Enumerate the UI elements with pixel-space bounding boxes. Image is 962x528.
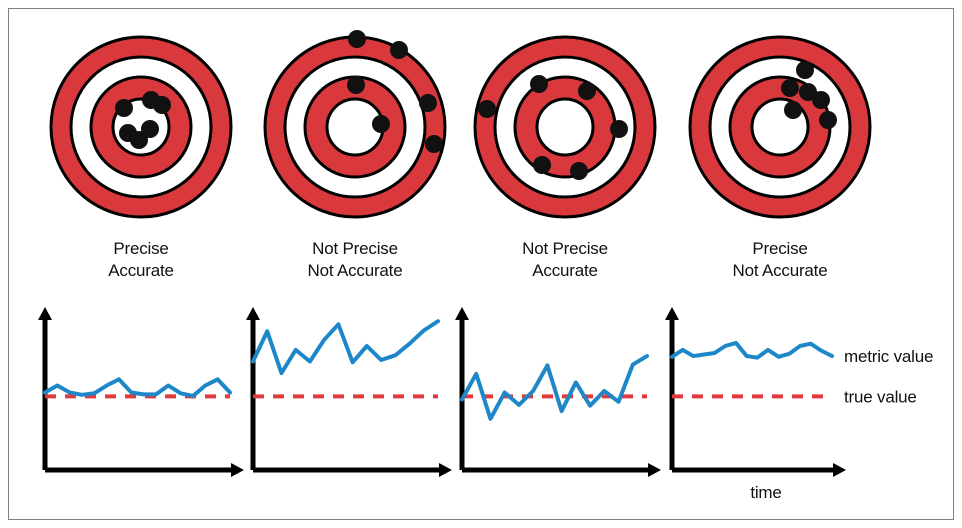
target-2: Not PreciseNot Accurate [265, 30, 445, 280]
x-axis-arrowhead [648, 463, 661, 477]
targets-layer: PreciseAccurateNot PreciseNot AccurateNo… [51, 30, 870, 280]
shot-dot [533, 156, 551, 174]
target-1: PreciseAccurate [51, 37, 231, 280]
shot-dot [781, 79, 799, 97]
target-label-line2: Not Accurate [308, 261, 403, 280]
shot-dot [610, 120, 628, 138]
x-axis-arrowhead [231, 463, 244, 477]
shot-dot [784, 101, 802, 119]
shot-dot [796, 61, 814, 79]
shot-dot [390, 41, 408, 59]
target-label-line2: Accurate [532, 261, 598, 280]
target-label-line1: Not Precise [312, 239, 398, 258]
chart-1 [38, 307, 244, 477]
shot-dot [819, 111, 837, 129]
target-label-line2: Accurate [108, 261, 174, 280]
shot-dot [347, 76, 365, 94]
y-axis-arrowhead [38, 307, 52, 320]
target-label-line2: Not Accurate [733, 261, 828, 280]
metric-value-line [462, 356, 647, 419]
chart-2 [246, 307, 452, 477]
shot-dot [141, 120, 159, 138]
y-axis-arrowhead [665, 307, 679, 320]
precision-accuracy-figure: PreciseAccurateNot PreciseNot AccurateNo… [0, 0, 962, 528]
target-4: PreciseNot Accurate [690, 37, 870, 280]
shot-dot [570, 162, 588, 180]
legend-label-metric-value: metric value [844, 347, 933, 366]
shot-dot [478, 100, 496, 118]
y-axis-arrowhead [246, 307, 260, 320]
target-label-line1: Precise [752, 239, 807, 258]
metric-value-line [253, 321, 438, 373]
chart-4: metric valuetrue valuetime [665, 307, 933, 502]
chart-3 [455, 307, 661, 477]
x-axis-arrowhead [833, 463, 846, 477]
charts-layer: metric valuetrue valuetime [38, 307, 933, 502]
diagram-canvas: PreciseAccurateNot PreciseNot AccurateNo… [0, 0, 962, 528]
shot-dot [348, 30, 366, 48]
metric-value-line [672, 343, 832, 358]
target-label-line1: Not Precise [522, 239, 608, 258]
target-label-line1: Precise [113, 239, 168, 258]
y-axis-arrowhead [455, 307, 469, 320]
shot-dot [115, 99, 133, 117]
legend-label-true-value: true value [844, 387, 917, 406]
shot-dot [372, 115, 390, 133]
shot-dot [153, 96, 171, 114]
shot-dot [425, 135, 443, 153]
target-3: Not PreciseAccurate [475, 37, 655, 280]
shot-dot [530, 75, 548, 93]
shot-dot [419, 94, 437, 112]
x-axis-arrowhead [439, 463, 452, 477]
shot-dot [578, 82, 596, 100]
metric-value-line [45, 379, 230, 396]
shot-dot [812, 91, 830, 109]
target-bullseye [537, 99, 593, 155]
x-axis-label-time: time [750, 483, 781, 502]
